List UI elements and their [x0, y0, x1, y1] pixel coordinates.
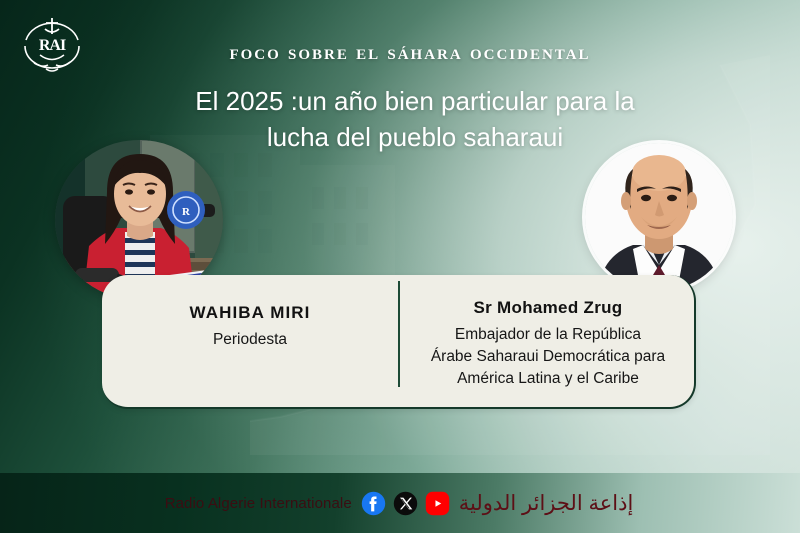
man-in-dark-suit-portrait	[585, 143, 733, 291]
speaker-role-right-line-2: Árabe Saharaui Democrática para	[431, 346, 665, 368]
footer-brand-arabic: إذاعة الجزائر الدولية	[459, 491, 634, 516]
speaker-role-right: Embajador de la República Árabe Saharaui…	[431, 324, 665, 390]
speaker-block-right: Sr Mohamed Zrug Embajador de la Repúblic…	[400, 275, 696, 407]
speaker-name-right: Sr Mohamed Zrug	[473, 298, 622, 318]
youtube-icon[interactable]	[425, 491, 450, 516]
svg-text:RAI: RAI	[39, 37, 66, 54]
svg-text:R: R	[182, 206, 191, 218]
page-title: El 2025 :un año bien particular para la …	[110, 84, 720, 156]
radio-algerie-internationale-logo-icon: RAI	[16, 10, 88, 80]
poster-canvas: RAI FOCO SOBRE EL SÁHARA OCCIDENTAL El 2…	[0, 0, 800, 533]
speaker-role-right-line-3: América Latina y el Caribe	[431, 368, 665, 390]
speaker-role-right-line-1: Embajador de la República	[431, 324, 665, 346]
speaker-block-left: WAHIBA MIRI Periodesta	[102, 275, 398, 407]
facebook-icon[interactable]	[361, 491, 386, 516]
guest-photo-mohamed-zrug	[585, 143, 733, 291]
speaker-name-left: WAHIBA MIRI	[189, 303, 310, 323]
footer-bar: Radio Algerie Internationale إذاعة الجزا…	[0, 473, 800, 533]
social-links	[361, 491, 450, 516]
speaker-role-left: Periodesta	[213, 329, 287, 351]
page-title-line-1: El 2025 :un año bien particular para la	[110, 84, 720, 120]
footer-brand-latin: Radio Algerie Internationale	[165, 495, 352, 512]
x-twitter-icon[interactable]	[393, 491, 418, 516]
page-kicker: FOCO SOBRE EL SÁHARA OCCIDENTAL	[110, 40, 710, 65]
speakers-card: WAHIBA MIRI Periodesta Sr Mohamed Zrug E…	[102, 275, 696, 409]
